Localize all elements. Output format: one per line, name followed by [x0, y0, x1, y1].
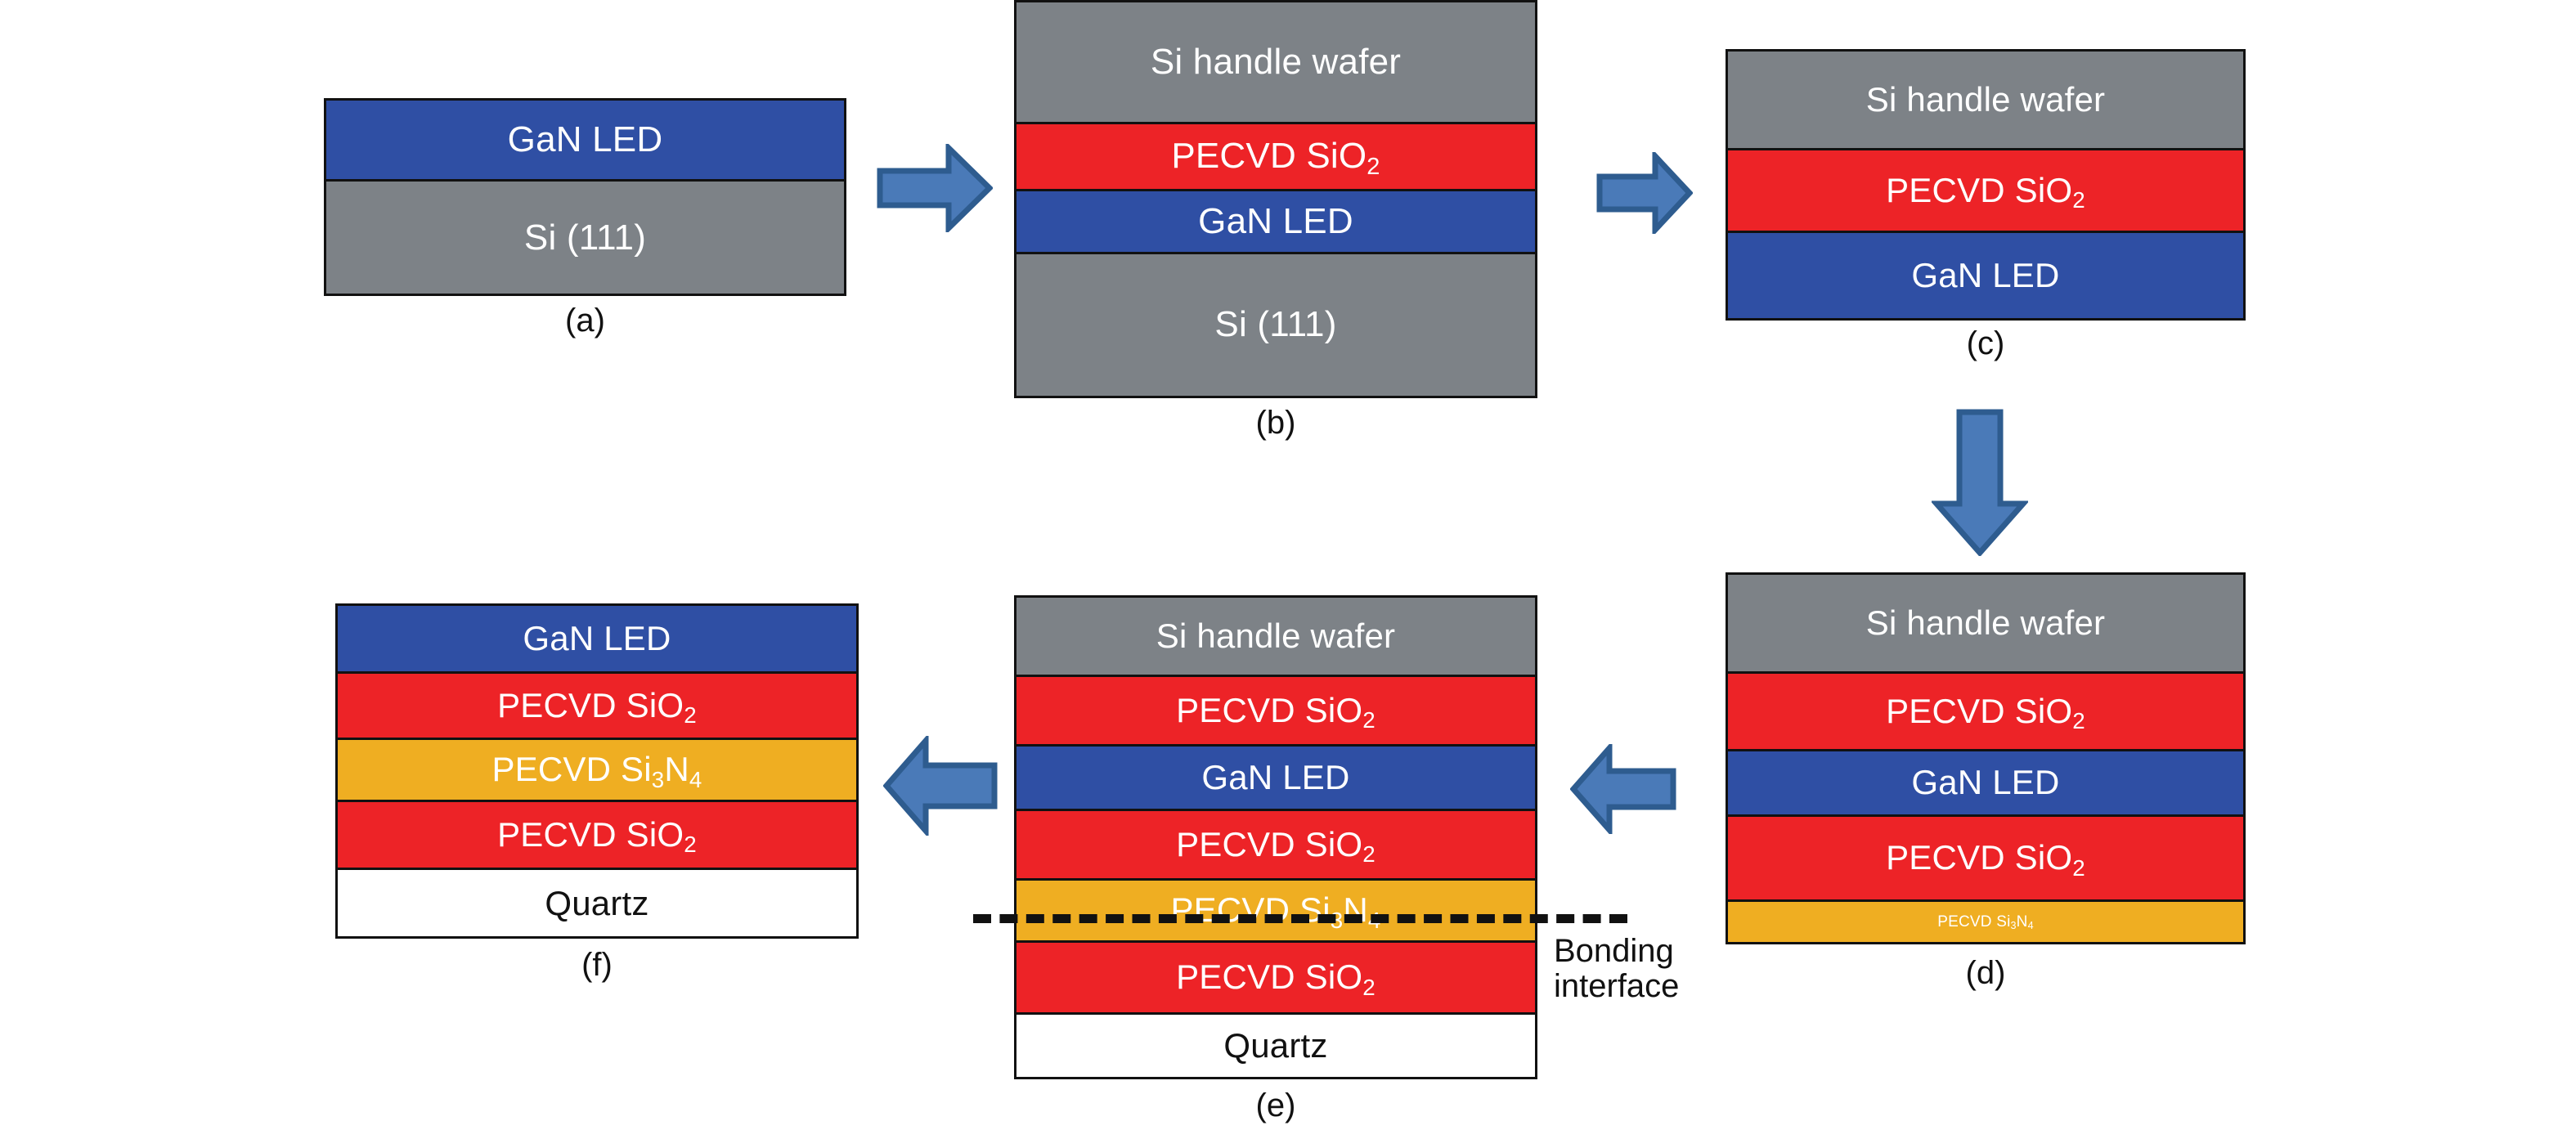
- layer-si-handle-wafer: Si handle wafer: [1016, 2, 1535, 124]
- layer-label: PECVD SiO2: [1176, 827, 1376, 862]
- layer-si-handle-wafer: Si handle wafer: [1016, 598, 1535, 677]
- layer-pecvd-sio2-upper: PECVD SiO2: [1728, 674, 2243, 751]
- layer-label: PECVD SiO2: [497, 688, 697, 723]
- layer-quartz: Quartz: [338, 870, 856, 936]
- layer-gan-led: GaN LED: [338, 606, 856, 674]
- layer-label: GaN LED: [1911, 765, 2059, 800]
- layer-pecvd-si3n4: PECVD Si3N4: [338, 740, 856, 803]
- panel-a-caption: (a): [324, 304, 846, 337]
- layer-si-111: Si (111): [1016, 254, 1535, 396]
- layer-gan-led: GaN LED: [1016, 191, 1535, 254]
- panel-f-stack: GaN LED PECVD SiO2 PECVD Si3N4 PECVD SiO…: [335, 603, 859, 939]
- arrow-b-to-c-icon: [1596, 152, 1693, 234]
- layer-label: GaN LED: [1198, 204, 1353, 240]
- layer-si-handle-wafer: Si handle wafer: [1728, 575, 2243, 674]
- layer-pecvd-sio2-upper-mid: PECVD SiO2: [1016, 811, 1535, 881]
- bonding-interface-label: Bonding interface: [1554, 934, 1679, 1004]
- layer-pecvd-sio2-upper: PECVD SiO2: [338, 674, 856, 740]
- layer-label: Si handle wafer: [1156, 619, 1396, 653]
- layer-gan-led: GaN LED: [1728, 751, 2243, 818]
- panel-c-caption: (c): [1726, 327, 2246, 360]
- layer-label: PECVD Si3N4: [1937, 914, 2034, 930]
- layer-label: PECVD SiO2: [1886, 173, 2085, 208]
- layer-si-handle-wafer: Si handle wafer: [1728, 52, 2243, 150]
- layer-gan-led: GaN LED: [1728, 233, 2243, 318]
- layer-quartz: Quartz: [1016, 1015, 1535, 1077]
- panel-f-caption: (f): [335, 948, 859, 981]
- layer-label: PECVD SiO2: [1886, 841, 2085, 875]
- bonding-interface-label-line1: Bonding: [1554, 934, 1679, 969]
- layer-label: Si handle wafer: [1866, 606, 2106, 640]
- panel-b-stack: Si handle wafer PECVD SiO2 GaN LED Si (1…: [1014, 0, 1537, 398]
- layer-label: GaN LED: [508, 122, 663, 158]
- layer-pecvd-sio2-bottom: PECVD SiO2: [1016, 943, 1535, 1015]
- figure-canvas: GaN LED Si (111) (a) Si handle wafer PEC…: [0, 0, 2576, 1148]
- panel-d-caption: (d): [1726, 957, 2246, 989]
- arrow-d-to-e-icon: [1570, 744, 1676, 834]
- arrow-a-to-b-icon: [877, 144, 993, 232]
- layer-label: GaN LED: [523, 621, 671, 656]
- layer-label: GaN LED: [1201, 760, 1349, 795]
- bonding-interface-label-line2: interface: [1554, 969, 1679, 1004]
- bonding-interface-line: [973, 914, 1627, 923]
- layer-pecvd-sio2-lower: PECVD SiO2: [338, 802, 856, 870]
- layer-label: Quartz: [1223, 1029, 1327, 1063]
- panel-b-caption: (b): [1014, 406, 1537, 439]
- layer-label: PECVD SiO2: [497, 818, 697, 852]
- layer-label: Si (111): [1214, 307, 1336, 343]
- layer-label: Quartz: [545, 886, 648, 921]
- layer-pecvd-sio2-lower: PECVD SiO2: [1728, 817, 2243, 901]
- panel-e-caption: (e): [1014, 1089, 1537, 1122]
- layer-label: PECVD SiO2: [1886, 694, 2085, 729]
- layer-label: Si handle wafer: [1151, 44, 1401, 80]
- layer-label: PECVD SiO2: [1171, 138, 1380, 174]
- layer-gan-led: GaN LED: [326, 101, 844, 182]
- layer-pecvd-sio2: PECVD SiO2: [1016, 124, 1535, 191]
- layer-pecvd-si3n4: PECVD Si3N4: [1728, 902, 2243, 942]
- panel-d-stack: Si handle wafer PECVD SiO2 GaN LED PECVD…: [1726, 572, 2246, 944]
- layer-label: Si (111): [524, 220, 646, 256]
- panel-a-stack: GaN LED Si (111): [324, 98, 846, 296]
- layer-label: GaN LED: [1911, 258, 2059, 293]
- arrow-c-to-d-icon: [1932, 409, 2028, 556]
- layer-si-111: Si (111): [326, 182, 844, 294]
- layer-pecvd-sio2-top: PECVD SiO2: [1016, 677, 1535, 747]
- arrow-e-to-f-icon: [883, 736, 998, 836]
- layer-pecvd-si3n4: PECVD Si3N4: [1016, 881, 1535, 943]
- layer-label: Si handle wafer: [1866, 83, 2106, 117]
- panel-c-stack: Si handle wafer PECVD SiO2 GaN LED: [1726, 49, 2246, 321]
- panel-e-stack: Si handle wafer PECVD SiO2 GaN LED PECVD…: [1014, 595, 1537, 1079]
- layer-label: PECVD SiO2: [1176, 960, 1376, 994]
- layer-label: PECVD Si3N4: [491, 752, 702, 787]
- layer-label: PECVD SiO2: [1176, 693, 1376, 728]
- layer-pecvd-sio2: PECVD SiO2: [1728, 150, 2243, 233]
- layer-gan-led: GaN LED: [1016, 747, 1535, 811]
